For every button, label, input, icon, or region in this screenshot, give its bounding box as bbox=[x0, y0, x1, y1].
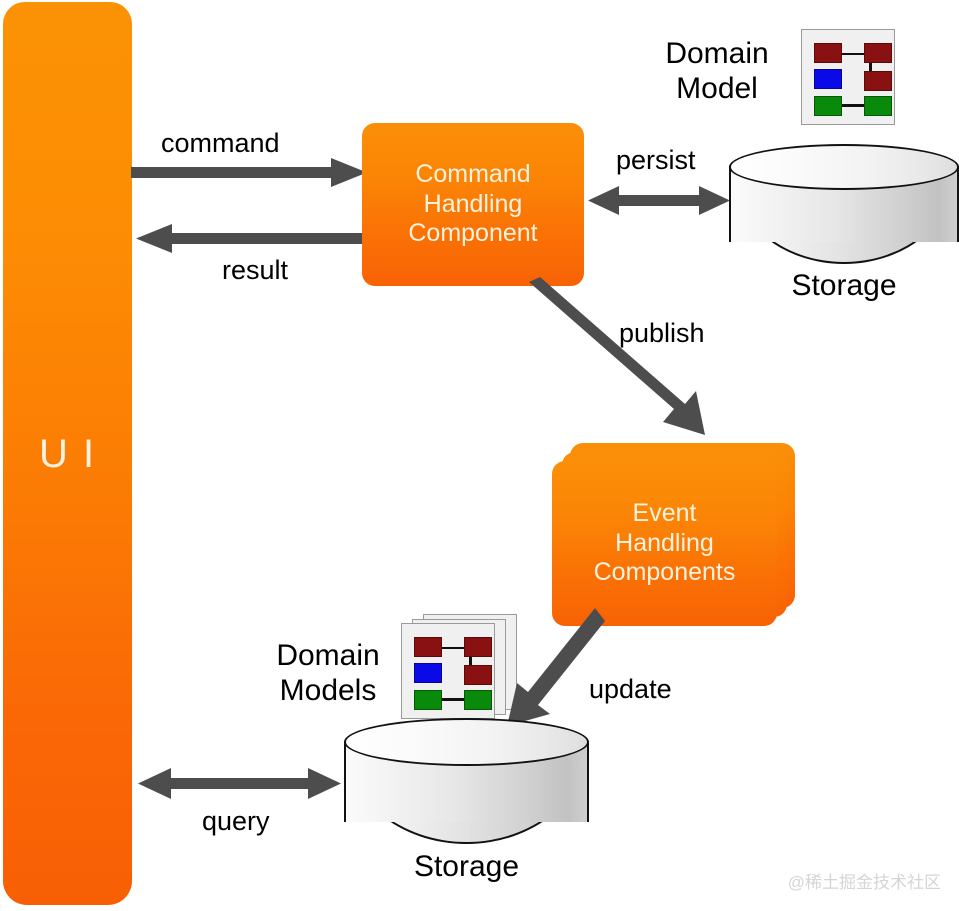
event-handling-components[interactable]: Event Handling Components bbox=[552, 443, 795, 626]
domain-model-node-green-2 bbox=[864, 96, 892, 116]
command-line-2: Handling bbox=[408, 190, 537, 220]
domain-model-node-red-3 bbox=[864, 71, 892, 91]
storage-bottom bbox=[344, 718, 589, 844]
domain-model-label: Domain Model bbox=[655, 36, 779, 107]
domain-model-node-red-1 bbox=[814, 43, 842, 63]
event-card-front[interactable]: Event Handling Components bbox=[552, 461, 777, 626]
domain-models-node-red-1 bbox=[414, 637, 442, 657]
storage-top-label: Storage bbox=[729, 268, 959, 303]
domain-models-node-blue bbox=[414, 663, 442, 683]
domain-models-sheet-1 bbox=[401, 623, 495, 719]
storage-bottom-label: Storage bbox=[344, 849, 589, 884]
arrow-label-publish: publish bbox=[619, 320, 705, 347]
domain-model-icon bbox=[801, 29, 895, 125]
domain-models-grid bbox=[402, 624, 494, 718]
arrow-publish bbox=[525, 272, 720, 442]
domain-models-node-green-1 bbox=[414, 690, 442, 710]
domain-model-node-green-1 bbox=[814, 96, 842, 116]
arrow-query bbox=[138, 768, 341, 800]
domain-model-line-1: Domain bbox=[655, 36, 779, 71]
arrow-label-update: update bbox=[589, 676, 672, 703]
arrow-persist bbox=[588, 186, 730, 216]
domain-model-node-red-2 bbox=[864, 43, 892, 63]
arrow-label-command: command bbox=[161, 130, 280, 157]
storage-top-lid bbox=[729, 144, 959, 190]
diagram-canvas: U I command result Command Handling Comp… bbox=[0, 0, 959, 911]
arrow-result bbox=[136, 224, 367, 254]
domain-model-sheet bbox=[801, 29, 895, 125]
ui-panel[interactable]: U I bbox=[3, 2, 132, 905]
domain-model-line-2: Model bbox=[655, 71, 779, 106]
arrow-update bbox=[505, 608, 615, 730]
command-handling-component[interactable]: Command Handling Component bbox=[362, 123, 584, 286]
ui-panel-label: U I bbox=[3, 434, 132, 474]
domain-models-link-1 bbox=[442, 647, 464, 649]
domain-model-grid bbox=[802, 30, 894, 124]
event-line-2: Handling bbox=[594, 529, 736, 559]
storage-bottom-lid bbox=[344, 718, 589, 766]
arrow-label-persist: persist bbox=[616, 147, 696, 174]
domain-model-link-1 bbox=[842, 53, 864, 55]
domain-models-node-red-3 bbox=[464, 665, 492, 685]
domain-models-node-red-2 bbox=[464, 637, 492, 657]
domain-models-link-3 bbox=[442, 698, 464, 701]
event-line-3: Components bbox=[594, 558, 736, 588]
event-handling-components-text: Event Handling Components bbox=[594, 499, 736, 588]
domain-model-node-blue bbox=[814, 69, 842, 89]
arrow-label-result: result bbox=[222, 257, 288, 284]
domain-models-icon bbox=[401, 614, 517, 719]
arrow-command bbox=[131, 158, 367, 188]
domain-models-node-green-2 bbox=[464, 690, 492, 710]
domain-model-link-3 bbox=[842, 104, 864, 107]
domain-models-label: Domain Models bbox=[263, 638, 393, 709]
command-handling-component-text: Command Handling Component bbox=[408, 160, 537, 249]
arrow-label-query: query bbox=[202, 808, 270, 835]
event-line-1: Event bbox=[594, 499, 736, 529]
command-line-3: Component bbox=[408, 219, 537, 249]
domain-models-line-1: Domain bbox=[263, 638, 393, 673]
domain-models-line-2: Models bbox=[263, 673, 393, 708]
storage-top bbox=[729, 144, 959, 264]
command-line-1: Command bbox=[408, 160, 537, 190]
watermark: @稀土掘金技术社区 bbox=[788, 868, 941, 893]
